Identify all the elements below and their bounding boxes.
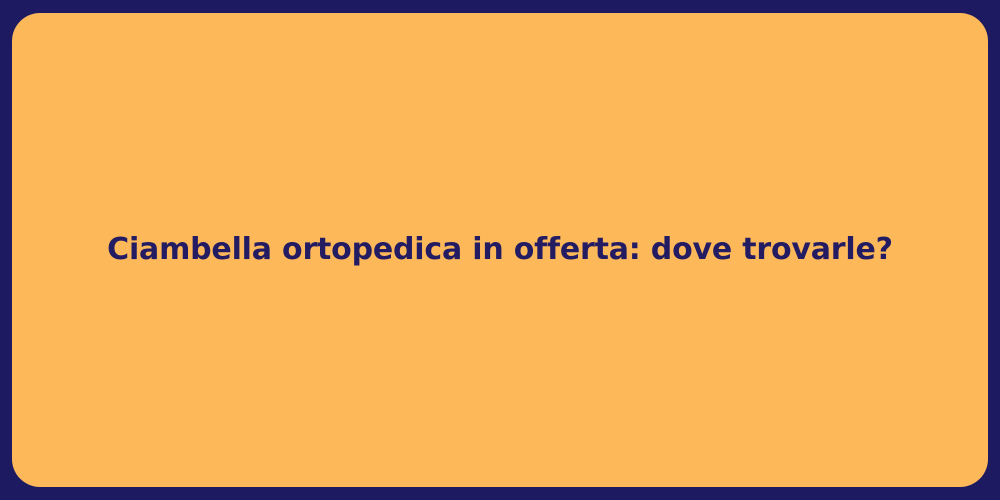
banner-panel: Ciambella ortopedica in offerta: dove tr… xyxy=(12,13,988,487)
banner-headline: Ciambella ortopedica in offerta: dove tr… xyxy=(67,231,933,269)
banner-frame: Ciambella ortopedica in offerta: dove tr… xyxy=(0,0,1000,500)
